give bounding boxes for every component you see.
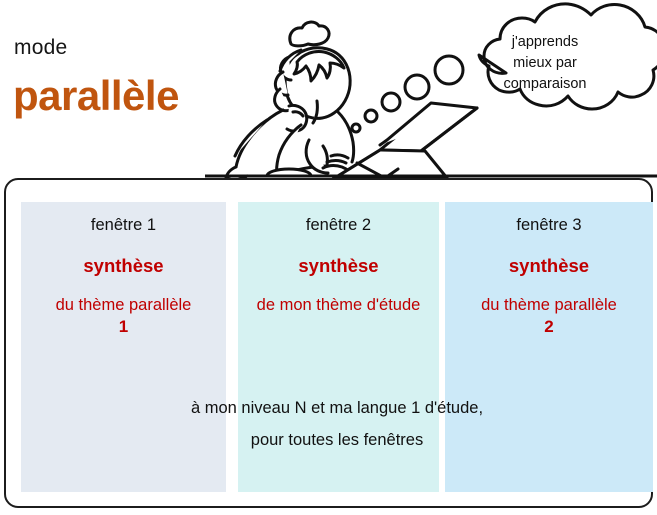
footer-note-line-1: à mon niveau N et ma langue 1 d'étude, <box>21 392 653 424</box>
window-3-theme: du thème parallèle <box>449 294 649 316</box>
window-panel-3-content: fenêtre 3 synthèse du thème parallèle 2 <box>445 214 653 338</box>
thought-bubble-text: j'apprends mieux par comparaison <box>466 32 624 95</box>
window-1-synthesis: synthèse <box>25 255 222 277</box>
window-panel-2-content: fenêtre 2 synthèse de mon thème d'étude <box>238 214 439 316</box>
parallel-mode-card: fenêtre 1 synthèse du thème parallèle 1 … <box>4 178 653 508</box>
window-2-synthesis: synthèse <box>242 255 435 277</box>
window-2-theme: de mon thème d'étude <box>242 294 435 316</box>
thought-bubble-line-3: comparaison <box>503 76 586 92</box>
window-2-label: fenêtre 2 <box>242 214 435 236</box>
footer-note-line-2: pour toutes les fenêtres <box>21 424 653 456</box>
window-3-theme-number: 2 <box>449 316 649 338</box>
window-1-label: fenêtre 1 <box>25 214 222 236</box>
thought-bubble-line-2: mieux par <box>513 55 577 71</box>
header: mode parallèle <box>0 0 657 178</box>
thought-bubble-line-1: j'apprends <box>512 34 578 50</box>
mode-label: mode <box>14 36 67 60</box>
window-1-theme-number: 1 <box>25 316 222 338</box>
mode-title: parallèle <box>13 72 179 120</box>
window-3-label: fenêtre 3 <box>449 214 649 236</box>
window-panel-1-content: fenêtre 1 synthèse du thème parallèle 1 <box>21 214 226 338</box>
window-1-theme: du thème parallèle <box>25 294 222 316</box>
footer-note: à mon niveau N et ma langue 1 d'étude, p… <box>21 392 653 456</box>
window-3-synthesis: synthèse <box>449 255 649 277</box>
